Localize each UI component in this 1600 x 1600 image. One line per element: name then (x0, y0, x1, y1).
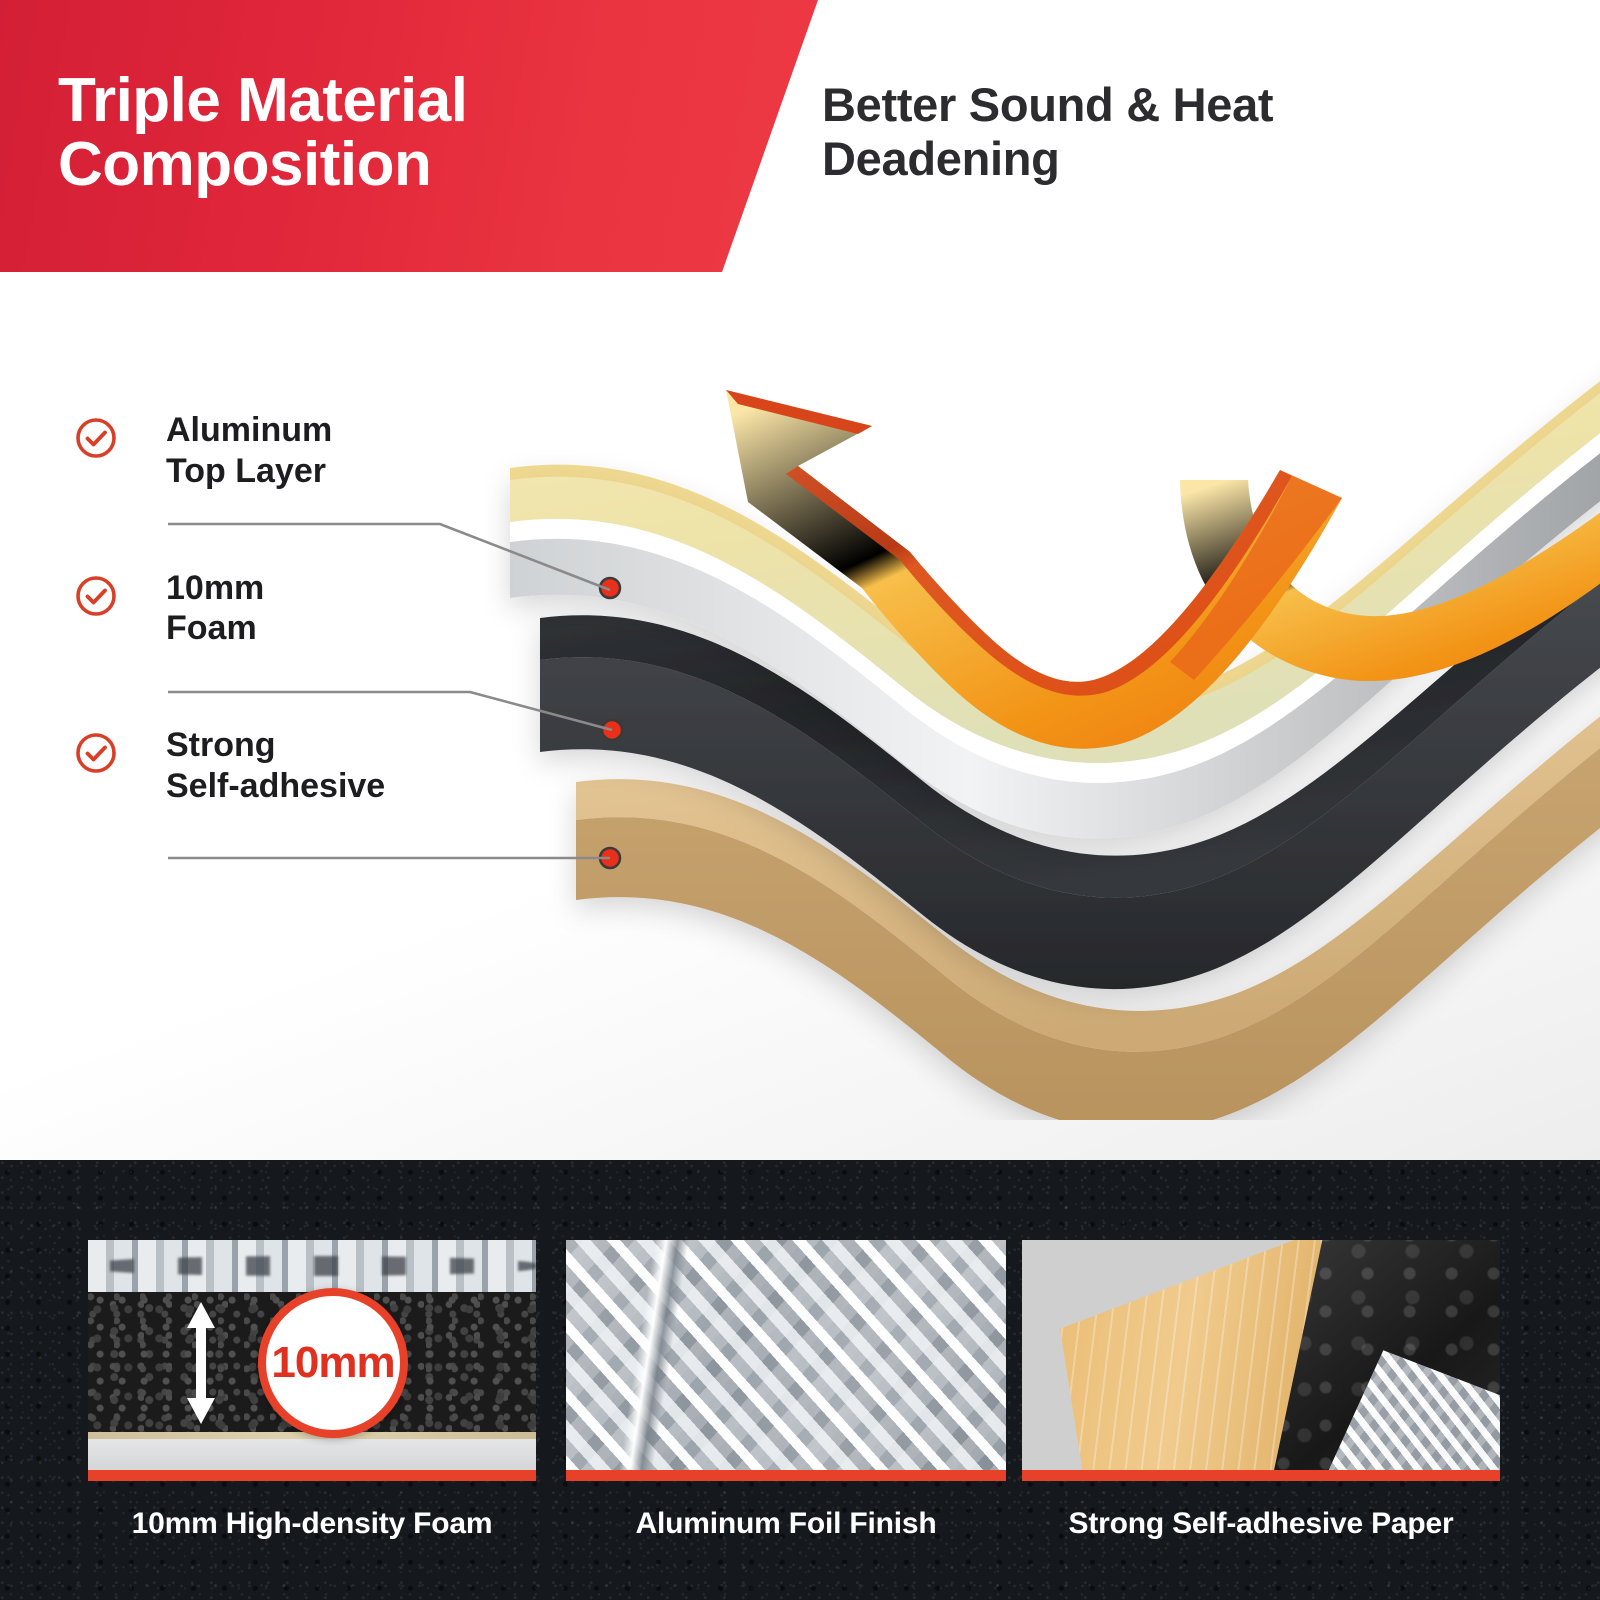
card-caption: 10mm High-density Foam (88, 1507, 536, 1541)
red-angled-banner: Triple Material Composition (0, 0, 830, 272)
bullet-label: Aluminum Top Layer (166, 410, 544, 492)
thickness-badge-label: 10mm (271, 1338, 394, 1388)
bullet-item-strong-self-adhesive: Strong Self-adhesive (74, 725, 544, 807)
bottom-dark-section: 10mm 10mm High-density Foam Aluminum Foi… (0, 1160, 1600, 1600)
layer-diagram-svg (480, 330, 1600, 1120)
foil-top-strip (88, 1240, 536, 1292)
thickness-badge: 10mm (258, 1288, 408, 1438)
check-circle-icon (74, 416, 118, 460)
kraft-paper-peel-photo (1022, 1240, 1500, 1470)
banner-title: Triple Material Composition (0, 69, 467, 204)
card-caption: Aluminum Foil Finish (566, 1507, 1006, 1541)
card-red-rule (88, 1470, 536, 1481)
check-circle-icon (74, 574, 118, 618)
white-backing-strip (88, 1432, 536, 1470)
card-caption: Strong Self-adhesive Paper (1022, 1507, 1500, 1541)
layer-marker-dot-adhesive (600, 848, 620, 868)
infographic-root: Triple Material Composition Better Sound… (0, 0, 1600, 1600)
photo-card-foil: Aluminum Foil Finish (566, 1240, 1006, 1541)
feature-bullet-list: Aluminum Top Layer 10mm Foam (74, 410, 544, 807)
card-red-rule (566, 1470, 1006, 1481)
bullet-label: 10mm Foam (166, 568, 544, 650)
photo-card-row: 10mm 10mm High-density Foam Aluminum Foi… (0, 1160, 1600, 1600)
check-circle-icon (74, 731, 118, 775)
headline-text: Better Sound & Heat Deadening (822, 78, 1522, 186)
card-red-rule (1022, 1470, 1500, 1481)
bullet-label: Strong Self-adhesive (166, 725, 544, 807)
photo-card-foam: 10mm 10mm High-density Foam (88, 1240, 536, 1541)
layer-marker-dot-foam (602, 720, 622, 740)
top-white-section: Triple Material Composition Better Sound… (0, 0, 1600, 1160)
foam-cross-section-photo: 10mm (88, 1240, 536, 1470)
layer-diagram (480, 330, 1600, 1120)
bullet-item-10mm-foam: 10mm Foam (74, 568, 544, 650)
thickness-dimension-arrow-icon (184, 1302, 218, 1424)
photo-card-adhesive: Strong Self-adhesive Paper (1022, 1240, 1500, 1541)
layer-marker-dot-aluminum (600, 578, 620, 598)
aluminum-foil-texture-photo (566, 1240, 1006, 1470)
embossed-foil-pattern (566, 1240, 1006, 1470)
bullet-item-aluminum-top-layer: Aluminum Top Layer (74, 410, 544, 492)
